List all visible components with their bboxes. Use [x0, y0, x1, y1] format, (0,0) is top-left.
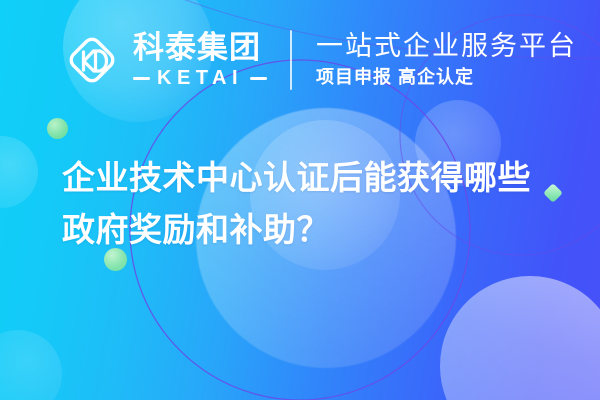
header-slogan-block: 一站式企业服务平台 项目申报 高企认定 — [316, 32, 577, 88]
header-vertical-divider — [290, 30, 292, 90]
bottom-right-circle — [440, 276, 600, 400]
ketai-diamond-logo-icon — [62, 30, 122, 90]
brand-name-en-row: KETAI — [133, 68, 267, 88]
dash-left-icon — [133, 77, 150, 80]
brand-name-cn: 科泰集团 — [133, 32, 267, 65]
page-title: 企业技术中心认证后能获得哪些政府奖励和补助？ — [62, 152, 562, 256]
slogan-main: 一站式企业服务平台 — [316, 32, 577, 62]
green-dot-1 — [47, 118, 68, 139]
promo-banner: 科泰集团 KETAI 一站式企业服务平台 项目申报 高企认定 企业技术中心认证后… — [0, 0, 600, 400]
slogan-sub: 项目申报 高企认定 — [316, 68, 577, 88]
dash-right-icon — [250, 77, 267, 80]
brand-text-block: 科泰集团 KETAI — [133, 32, 267, 89]
article-title-block: 企业技术中心认证后能获得哪些政府奖励和补助？ — [62, 152, 562, 256]
banner-header: 科泰集团 KETAI 一站式企业服务平台 项目申报 高企认定 — [0, 0, 600, 120]
brand-name-en: KETAI — [157, 68, 243, 88]
left-bubble — [0, 136, 38, 208]
brand-lockup: 科泰集团 KETAI — [62, 30, 267, 90]
bottom-left-bubble — [0, 330, 62, 400]
